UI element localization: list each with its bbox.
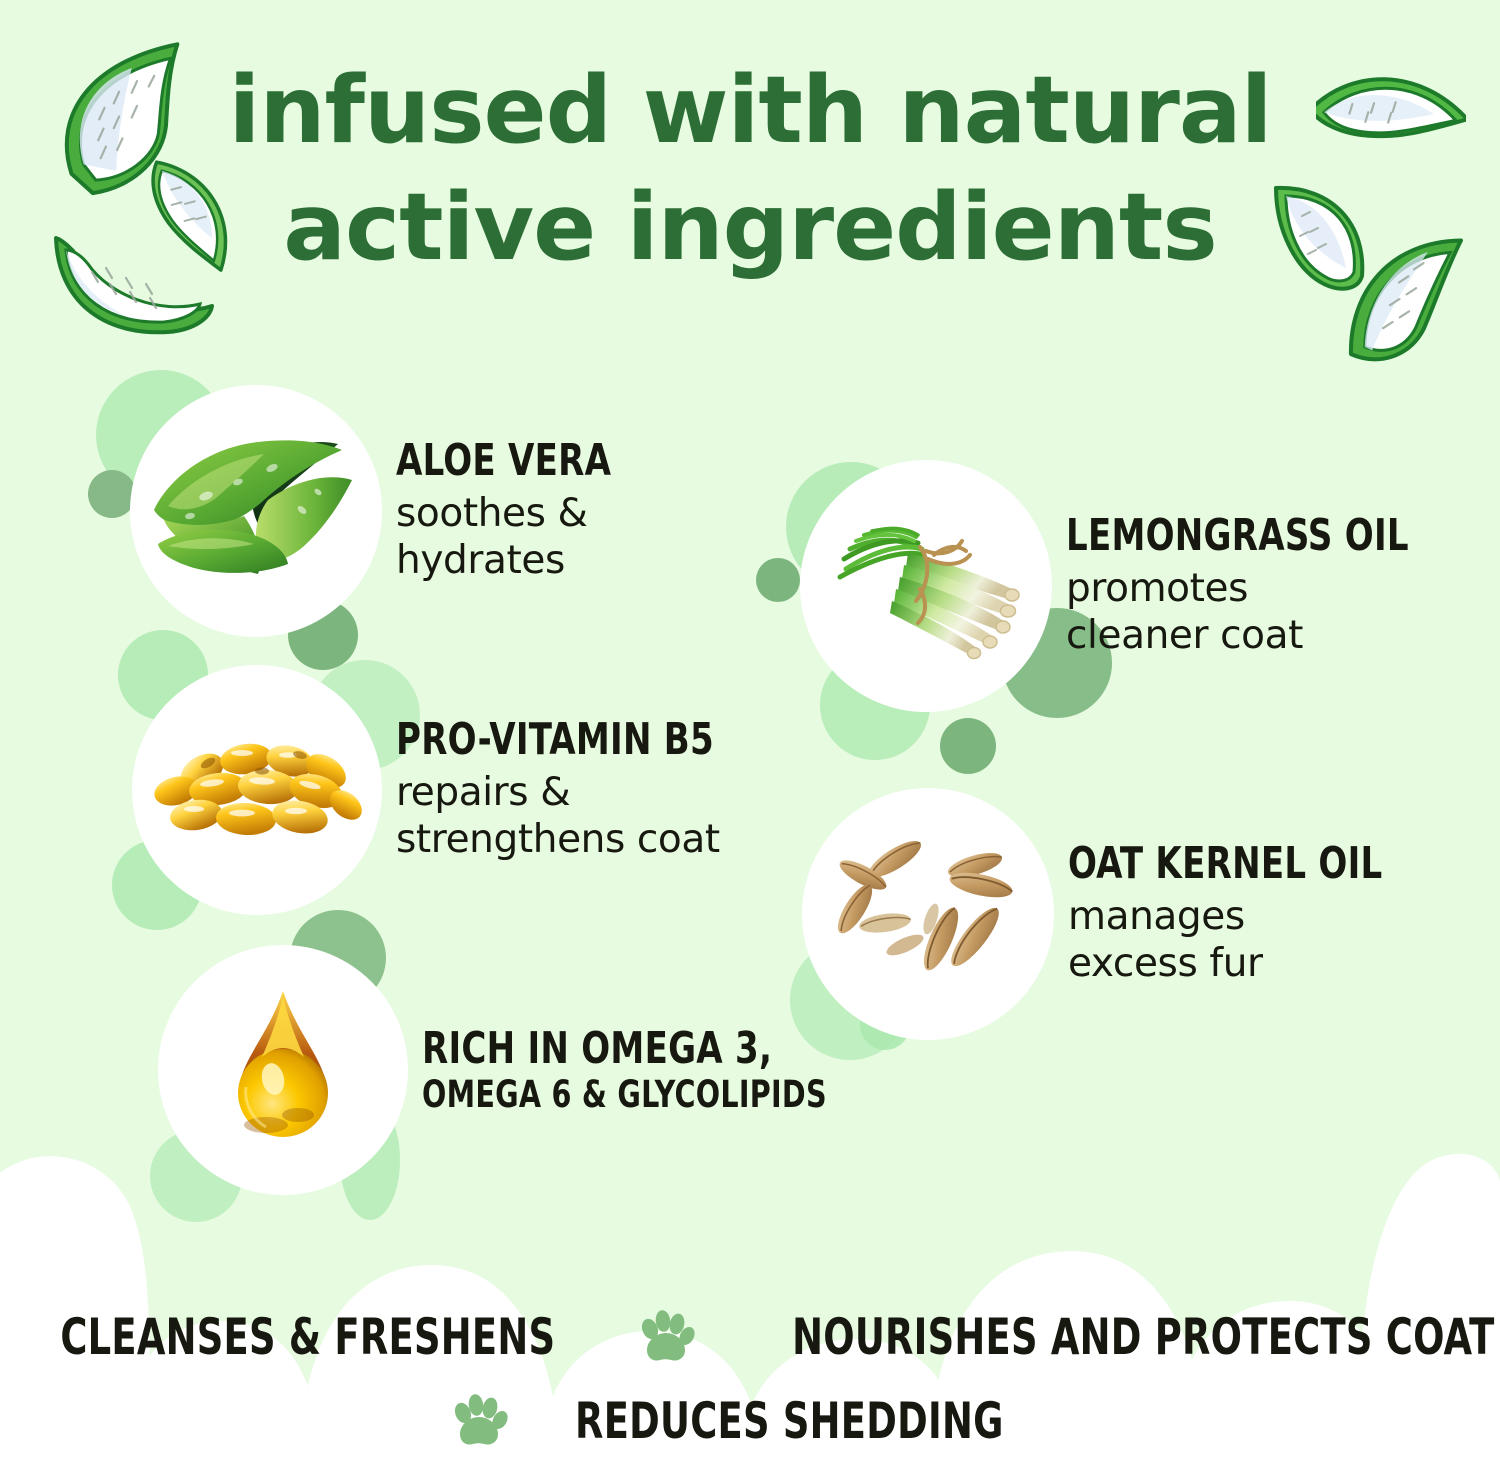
ingredient-name: ALOE VERA	[396, 438, 611, 484]
ingredient-omega: RICH IN OMEGA 3, OMEGA 6 & GLYCOLIPIDS	[158, 945, 893, 1195]
paw-icon	[637, 1308, 695, 1366]
paw-icon	[450, 1392, 508, 1450]
infographic-canvas: infused with natural active ingredients	[0, 0, 1500, 1463]
ingredient-name: PRO-VITAMIN B5	[396, 717, 714, 763]
ingredient-description: soothes & hydrates	[396, 490, 646, 584]
title-line-2: active ingredients	[0, 169, 1500, 286]
aloe-leaf-illustration	[146, 424, 366, 599]
benefits-row-1: CLEANSES & FRESHENS NOURISHES AND PROTEC…	[0, 1308, 1500, 1366]
ingredient-aloe-vera: ALOE VERA soothes & hydrates	[130, 385, 646, 637]
benefit-label: CLEANSES & FRESHENS	[60, 1308, 555, 1366]
benefit-reduces-shedding: REDUCES SHEDDING	[450, 1392, 1051, 1450]
ingredient-pro-vitamin-b5: PRO-VITAMIN B5 repairs & strengthens coa…	[132, 665, 766, 915]
decor-blob-sage-4	[756, 558, 800, 602]
page-title: infused with natural active ingredients	[0, 52, 1500, 286]
ingredient-oat-kernel-oil: OAT KERNEL OIL manages excess fur	[802, 788, 1434, 1040]
ingredient-name: OAT KERNEL OIL	[1068, 841, 1382, 887]
lemongrass-oil-photo	[800, 460, 1052, 712]
gel-capsules-illustration	[150, 725, 365, 855]
aloe-vera-photo	[130, 385, 382, 637]
lemongrass-bundle-illustration	[816, 511, 1036, 661]
benefit-label: NOURISHES AND PROTECTS COAT	[793, 1308, 1495, 1366]
ingredient-description: repairs & strengthens coat	[396, 769, 766, 863]
ingredient-name: LEMONGRASS OIL	[1066, 513, 1409, 559]
ingredient-name: RICH IN OMEGA 3,	[422, 1026, 827, 1072]
benefits-row-2: REDUCES SHEDDING	[0, 1392, 1500, 1450]
decor-blob-sage-6	[940, 718, 996, 774]
benefit-cleanses-freshens: CLEANSES & FRESHENS	[0, 1308, 609, 1366]
ingredient-name-line2: OMEGA 6 & GLYCOLIPIDS	[422, 1076, 827, 1114]
ingredient-description: manages excess fur	[1068, 893, 1434, 987]
ingredient-lemongrass-oil: LEMONGRASS OIL promotes cleaner coat	[800, 460, 1465, 712]
omega-oil-photo	[158, 945, 408, 1195]
decor-blob-sage-1	[88, 470, 136, 518]
title-line-1: infused with natural	[228, 56, 1271, 164]
benefit-label: REDUCES SHEDDING	[575, 1392, 1004, 1450]
benefit-nourishes-protects: NOURISHES AND PROTECTS COAT	[637, 1308, 1500, 1366]
oat-kernels-illustration	[823, 827, 1033, 1002]
pro-vitamin-b5-photo	[132, 665, 382, 915]
ingredient-description: promotes cleaner coat	[1066, 565, 1465, 659]
oat-kernel-oil-photo	[802, 788, 1054, 1040]
benefits-section: CLEANSES & FRESHENS NOURISHES AND PROTEC…	[0, 1308, 1500, 1450]
oil-droplet-illustration	[218, 983, 348, 1158]
